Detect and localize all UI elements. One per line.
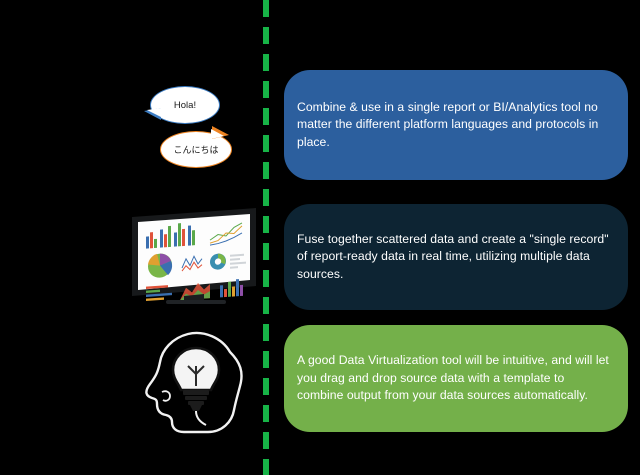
callout-panel-intuitive: A good Data Virtualization tool will be … bbox=[284, 325, 628, 432]
speech-bubble-tail-japanese-fill bbox=[211, 129, 224, 139]
speech-bubble-japanese-label: こんにちは bbox=[173, 143, 218, 156]
callout-panel-dashboard: Fuse together scattered data and create … bbox=[284, 204, 628, 310]
infographic-canvas: Hola! こんにちは Combine & use in a single re… bbox=[0, 0, 640, 475]
callout-panel-languages-text: Combine & use in a single report or BI/A… bbox=[284, 99, 628, 152]
speech-bubble-tail-spanish-fill bbox=[147, 108, 161, 117]
monitor-dashboard-svg bbox=[126, 200, 262, 310]
speech-bubble-spanish-label: Hola! bbox=[174, 100, 196, 111]
dashed-vertical-divider bbox=[263, 0, 269, 475]
lightbulb-head-icon bbox=[126, 322, 262, 440]
lightbulb-head-svg bbox=[126, 322, 262, 440]
monitor-dashboard-icon bbox=[126, 200, 262, 310]
callout-panel-intuitive-text: A good Data Virtualization tool will be … bbox=[284, 352, 628, 405]
callout-panel-languages: Combine & use in a single report or BI/A… bbox=[284, 70, 628, 180]
callout-panel-dashboard-text: Fuse together scattered data and create … bbox=[284, 231, 628, 284]
speech-bubbles-icon: Hola! こんにちは bbox=[128, 74, 258, 190]
